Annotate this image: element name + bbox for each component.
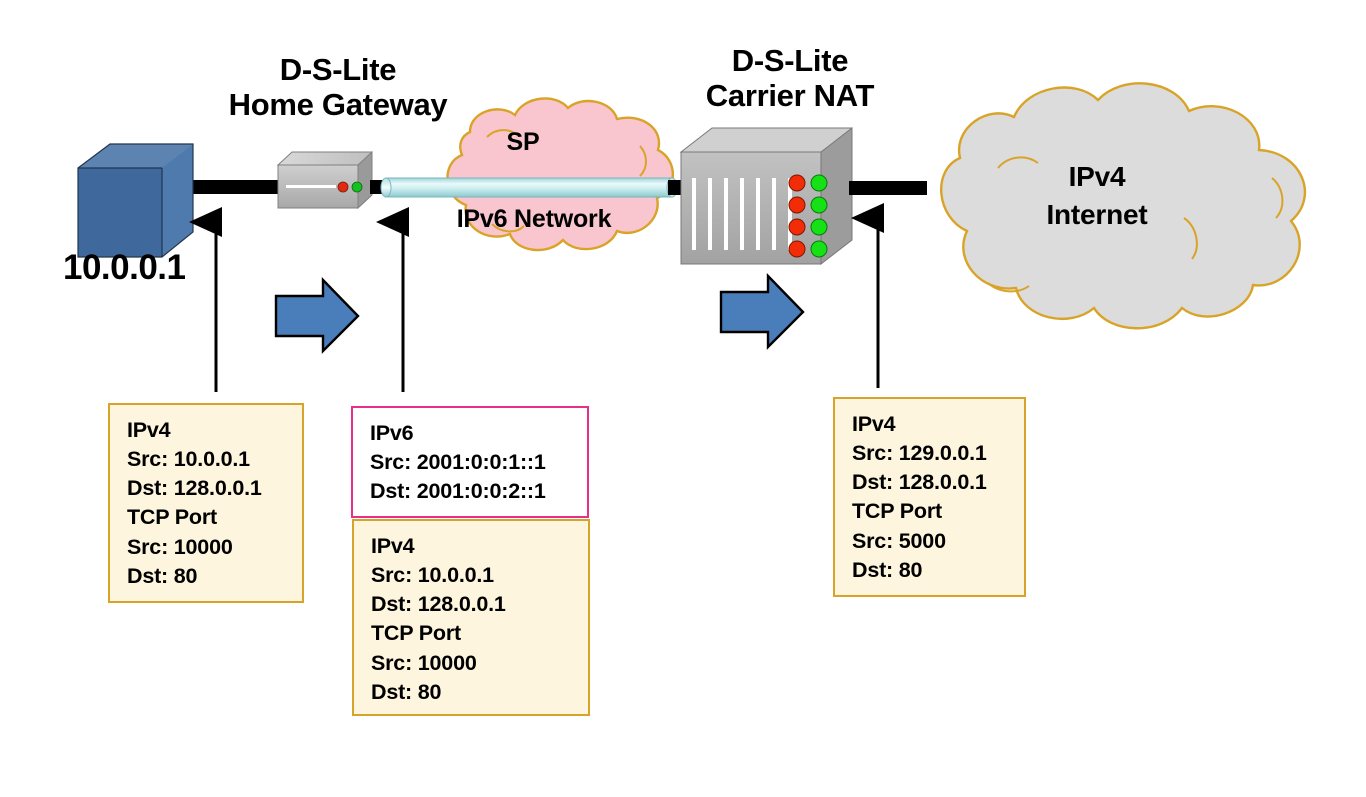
gateway-led-green bbox=[352, 182, 362, 192]
link-host-to-gateway bbox=[178, 180, 288, 194]
packet-left-header: IPv4 bbox=[127, 416, 302, 445]
packet-mid-inner-header: IPv4 bbox=[371, 532, 588, 561]
packet-right-tcp-dst: Dst: 80 bbox=[852, 556, 1024, 585]
packet-ipv4-encapsulated: IPv4 Src: 10.0.0.1 Dst: 128.0.0.1 TCP Po… bbox=[352, 519, 590, 716]
packet-right-header: IPv4 bbox=[852, 410, 1024, 439]
ipv6-tunnel-pipe bbox=[381, 178, 686, 197]
flow-arrow-right bbox=[721, 276, 803, 347]
link-nat-to-internet bbox=[849, 181, 927, 195]
home-gateway-title: D-S-Lite Home Gateway bbox=[186, 53, 490, 122]
packet-left-tcp: TCP Port bbox=[127, 503, 302, 532]
packet-mid-outer-src: Src: 2001:0:0:1::1 bbox=[370, 448, 587, 477]
internet-cloud-label-bottom: Internet bbox=[1007, 199, 1187, 230]
packet-left-dst: Dst: 128.0.0.1 bbox=[127, 474, 302, 503]
sp-cloud-label-bottom: IPv6 Network bbox=[434, 205, 634, 233]
packet-mid-inner-src: Src: 10.0.0.1 bbox=[371, 561, 588, 590]
packet-mid-outer-dst: Dst: 2001:0:0:2::1 bbox=[370, 477, 587, 506]
packet-ipv4-translated: IPv4 Src: 129.0.0.1 Dst: 128.0.0.1 TCP P… bbox=[833, 397, 1026, 597]
packet-mid-inner-dst: Dst: 128.0.0.1 bbox=[371, 590, 588, 619]
sp-cloud-label-top: SP bbox=[478, 128, 568, 156]
packet-left-tcp-dst: Dst: 80 bbox=[127, 562, 302, 591]
home-gateway-title-line1: D-S-Lite bbox=[186, 53, 490, 88]
home-gateway-title-line2: Home Gateway bbox=[186, 88, 490, 123]
gateway-led-red bbox=[338, 182, 348, 192]
carrier-nat-device bbox=[681, 128, 852, 264]
packet-right-tcp-src: Src: 5000 bbox=[852, 527, 1024, 556]
packet-ipv4-private: IPv4 Src: 10.0.0.1 Dst: 128.0.0.1 TCP Po… bbox=[108, 403, 304, 603]
flow-arrow-left bbox=[276, 280, 358, 351]
packet-right-dst: Dst: 128.0.0.1 bbox=[852, 468, 1024, 497]
internet-cloud-label-top: IPv4 bbox=[1035, 161, 1159, 192]
diagram-canvas: D-S-Lite Home Gateway D-S-Lite Carrier N… bbox=[0, 0, 1366, 797]
packet-mid-inner-tcp-src: Src: 10000 bbox=[371, 649, 588, 678]
packet-left-tcp-src: Src: 10000 bbox=[127, 533, 302, 562]
packet-right-tcp: TCP Port bbox=[852, 497, 1024, 526]
carrier-nat-title-line2: Carrier NAT bbox=[640, 79, 940, 114]
packet-ipv6-outer: IPv6 Src: 2001:0:0:1::1 Dst: 2001:0:0:2:… bbox=[351, 406, 589, 518]
host-cube bbox=[78, 144, 193, 257]
home-gateway-device bbox=[278, 152, 386, 208]
carrier-nat-title: D-S-Lite Carrier NAT bbox=[640, 44, 940, 113]
packet-mid-outer-header: IPv6 bbox=[370, 419, 587, 448]
packet-mid-inner-tcp-dst: Dst: 80 bbox=[371, 678, 588, 707]
packet-left-src: Src: 10.0.0.1 bbox=[127, 445, 302, 474]
packet-right-src: Src: 129.0.0.1 bbox=[852, 439, 1024, 468]
carrier-nat-title-line1: D-S-Lite bbox=[640, 44, 940, 79]
host-address-label: 10.0.0.1 bbox=[63, 248, 186, 287]
packet-mid-inner-tcp: TCP Port bbox=[371, 619, 588, 648]
